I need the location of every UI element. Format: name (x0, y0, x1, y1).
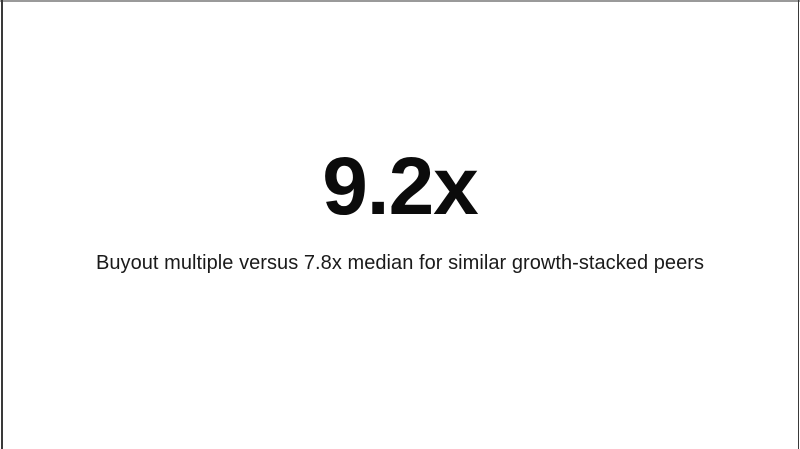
stat-slide: 9.2x Buyout multiple versus 7.8x median … (0, 0, 800, 449)
slide-top-border (0, 0, 800, 2)
stat-caption: Buyout multiple versus 7.8x median for s… (0, 250, 800, 276)
stat-block: 9.2x Buyout multiple versus 7.8x median … (0, 146, 800, 276)
stat-value: 9.2x (0, 146, 800, 228)
